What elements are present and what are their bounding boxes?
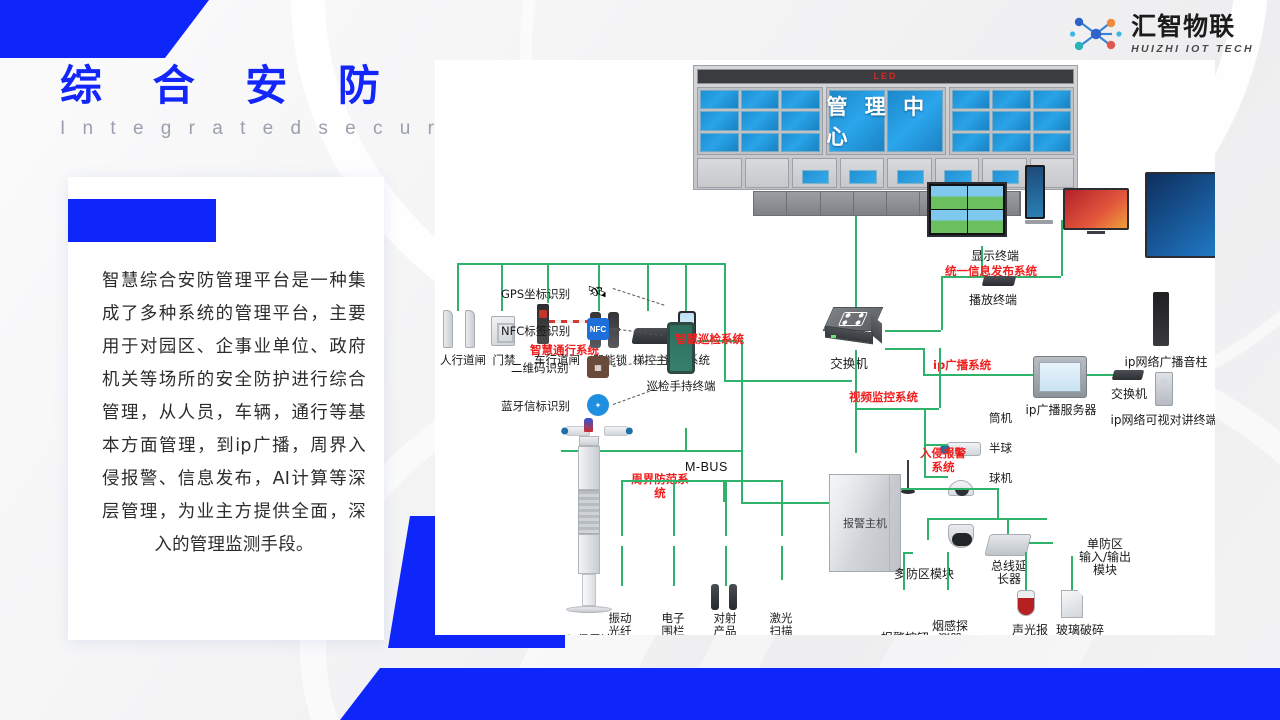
wire-alarmhost-left-bus	[741, 502, 829, 504]
label-alarm-host: 报警主机	[830, 475, 900, 571]
wire-module-to-smoke	[947, 552, 949, 590]
label-vibration-fiber: 振动 光纤	[597, 612, 643, 635]
label-siren: 声光报 警器	[1005, 624, 1055, 635]
wire-panic-link	[903, 552, 913, 554]
label-display-terminal: 显示终端	[960, 250, 1030, 263]
logo-title-en: HUIZHI IOT TECH	[1131, 44, 1254, 55]
wire-access-drop-6	[685, 263, 687, 311]
gps-satellite-icon: 🛰	[587, 282, 607, 302]
wire-access-drop-1	[457, 263, 459, 311]
wire-io-to-siren	[1025, 552, 1027, 590]
logo-network-icon	[1070, 14, 1122, 54]
wire-access-riser	[724, 263, 726, 380]
wire-switch-to-ipaudio-1	[885, 348, 923, 350]
wire-right-drop	[997, 488, 999, 518]
label-ip-column-speaker: ip网络广播音柱	[1113, 356, 1215, 369]
video-wall-title: 管 理 中 心	[827, 88, 945, 154]
wire-ext-to-io	[1029, 542, 1053, 544]
top-left-blue-shape	[0, 0, 165, 58]
wire-down-to-alarmhost	[855, 408, 857, 453]
wire-switch-to-info	[885, 330, 941, 332]
device-play-terminal	[982, 276, 1016, 286]
slide-root: 汇智物联 HUIZHI IOT TECH 综 合 安 防 I n t e g r…	[0, 0, 1280, 720]
label-bus-extender: 总线延 长器	[983, 560, 1035, 586]
wire-to-ptz	[924, 476, 948, 478]
label-beam-product: 对射 产品	[702, 612, 748, 635]
device-ptz-camera	[948, 524, 974, 548]
device-standee-display	[1025, 165, 1053, 224]
alarm-host-antenna	[907, 460, 909, 490]
video-wall-desks	[697, 158, 1074, 188]
device-audio-switch	[1112, 370, 1144, 380]
label-patrol-terminal: 巡检手持终端	[639, 380, 723, 393]
label-audio-switch: 交换机	[1103, 388, 1155, 401]
label-smoke-detector: 烟感探 测器	[925, 620, 975, 635]
device-video-wall-display	[927, 182, 1007, 237]
wire-cctv-riser	[939, 348, 941, 408]
device-ped-gate	[443, 310, 481, 350]
wire-alarm-module-bus	[927, 518, 1047, 520]
info-card-badge	[68, 199, 216, 242]
wire-io-to-glass	[1071, 556, 1073, 590]
bluetooth-beacon-icon: ✦	[587, 394, 609, 416]
wire-node2-down	[673, 546, 675, 586]
device-ip-audio-server	[1033, 356, 1087, 398]
video-wall-center: 管 理 中 心	[826, 87, 946, 155]
label-play-terminal: 播放终端	[957, 294, 1029, 307]
wire-gps-to-pda	[613, 288, 665, 306]
info-card-paragraph: 智慧综合安防管理平台是一种集成了多种系统的管理平台，主要用于对园区、企事业单位、…	[102, 265, 366, 562]
device-intrusion-radar	[553, 418, 625, 618]
label-core-switch: 交换机	[821, 357, 877, 370]
device-alarm-host: 报警主机	[829, 474, 901, 572]
system-label-ipaudio: ip广播系统	[933, 358, 991, 372]
device-patrol-pda	[667, 322, 695, 374]
wire-access-drop-5	[647, 263, 649, 311]
label-ble: 蓝牙信标识别	[501, 400, 570, 413]
qr-code-icon: ▦	[587, 356, 609, 378]
wire-mbus-extend	[725, 480, 781, 482]
system-label-perimeter: 周界防范系统	[631, 472, 689, 500]
architecture-diagram: 管 理 中 心	[435, 60, 1215, 635]
label-gps: GPS坐标识别	[501, 288, 570, 301]
device-tv-display	[1063, 188, 1129, 234]
label-bullet-camera: 筒机	[989, 412, 1012, 425]
wire-ipaudio-riser	[923, 348, 925, 374]
video-wall-right-grid	[949, 87, 1075, 155]
wire-patrol-riser	[741, 340, 743, 502]
brand-logo: 汇智物联 HUIZHI IOT TECH	[1070, 14, 1254, 55]
wire-node3-down	[725, 546, 727, 586]
wire-alarmhost-right-bus	[901, 488, 997, 490]
label-electric-fence: 电子 围栏	[650, 612, 696, 635]
system-label-intruder: 入侵报警系统	[917, 446, 969, 474]
wire-node4-down	[781, 546, 783, 580]
device-glass-break-detector	[1061, 590, 1083, 618]
label-multi-zone-module: 多防区模块	[887, 568, 961, 581]
label-qr: 二维码识别	[511, 362, 569, 375]
label-ip-audio-server: ip广播服务器	[1015, 404, 1107, 417]
wire-mbus-drop-2	[673, 480, 675, 536]
label-ip-intercom: ip网络可视对讲终端	[1099, 414, 1215, 427]
led-video-wall: 管 理 中 心	[693, 65, 1078, 190]
label-nfc: NFC标签识别	[501, 325, 570, 338]
label-ptz-camera: 球机	[989, 472, 1012, 485]
wire-perimeter-top	[685, 428, 687, 452]
wire-mbus-drop-3	[725, 480, 727, 536]
mbus-label: M-BUS	[685, 460, 728, 474]
label-dome-camera: 半球	[989, 442, 1012, 455]
wire-mbus-drop-4	[781, 480, 783, 536]
wire-module-drop-1	[927, 518, 929, 540]
device-siren	[1017, 590, 1035, 616]
device-ip-intercom	[1155, 372, 1173, 406]
label-glass-break-detector: 玻璃破碎 探测器	[1049, 624, 1111, 635]
bottom-blue-band	[380, 668, 1280, 720]
wire-module-to-panic	[903, 552, 905, 590]
wire-access-to-switch	[724, 380, 852, 382]
label-single-zone-io: 单防区 输入/输出 模块	[1075, 538, 1135, 577]
label-laser-scan: 激光 扫描	[758, 612, 804, 635]
wire-info-riser	[941, 276, 943, 330]
led-header-bar	[697, 69, 1074, 84]
nfc-tag-icon: NFC	[587, 318, 609, 340]
wire-server-to-switch2	[1087, 374, 1115, 376]
video-wall-left-grid	[697, 87, 823, 155]
logo-title-cn: 汇智物联	[1131, 14, 1254, 39]
core-switch-device	[825, 307, 883, 347]
info-card: 智慧综合安防管理平台是一种集成了多种系统的管理平台，主要用于对园区、企事业单位、…	[68, 177, 384, 640]
label-ped-gate: 人行道闸	[435, 354, 492, 367]
wire-cctv-bus	[855, 408, 939, 410]
system-label-patrol: 智慧巡检系统	[675, 332, 744, 346]
device-beam-product	[711, 584, 737, 610]
device-ip-column-speaker	[1153, 292, 1169, 346]
system-label-cctv: 视频监控系统	[849, 390, 918, 404]
device-large-lcd-display	[1145, 172, 1215, 258]
